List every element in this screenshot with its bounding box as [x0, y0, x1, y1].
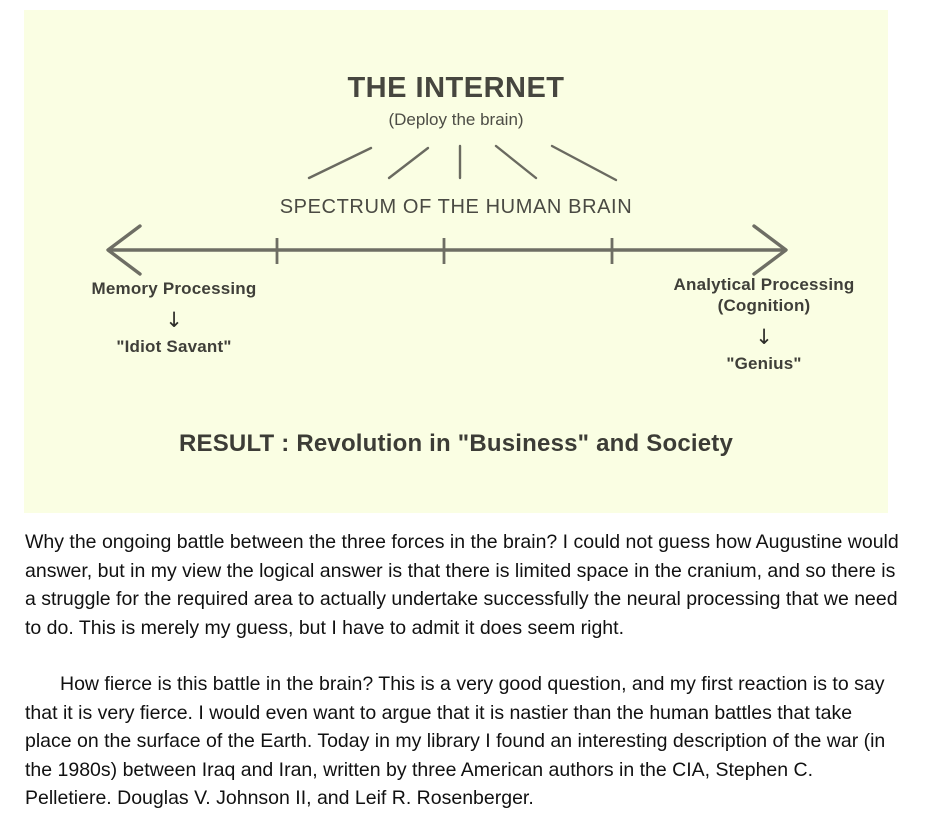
diagram-title-the-internet: THE INTERNET — [24, 72, 888, 105]
diagram-subtitle-deploy-the-brain: (Deploy the brain) — [24, 110, 888, 130]
spectrum-rays-group — [24, 140, 888, 200]
paragraph-1: Why the ongoing battle between the three… — [25, 528, 901, 642]
right-endpoint-quote: "Genius" — [624, 354, 904, 374]
right-endpoint-group: Analytical Processing (Cognition) ↓ "Gen… — [624, 274, 904, 374]
right-endpoint-title-line1: Analytical Processing — [624, 274, 904, 295]
diagram-figure-panel: THE INTERNET (Deploy the brain) SPECTRUM… — [24, 10, 888, 513]
diagram-result-line: RESULT : Revolution in "Business" and So… — [24, 430, 888, 458]
ray-line-4 — [496, 146, 536, 178]
down-arrow-icon-left: ↓ — [34, 305, 314, 335]
paragraph-2: How fierce is this battle in the brain? … — [25, 670, 901, 813]
body-prose: Why the ongoing battle between the three… — [25, 528, 901, 813]
right-endpoint-title-line2: (Cognition) — [624, 295, 904, 316]
ray-line-2 — [389, 148, 428, 178]
spectrum-axis-label: SPECTRUM OF THE HUMAN BRAIN — [24, 196, 888, 219]
left-endpoint-quote: "Idiot Savant" — [34, 337, 314, 357]
down-arrow-icon-right: ↓ — [624, 322, 904, 352]
left-endpoint-group: Memory Processing ↓ "Idiot Savant" — [34, 278, 314, 357]
left-endpoint-title: Memory Processing — [34, 278, 314, 299]
ray-line-1 — [309, 148, 371, 178]
ray-line-5 — [552, 146, 616, 180]
